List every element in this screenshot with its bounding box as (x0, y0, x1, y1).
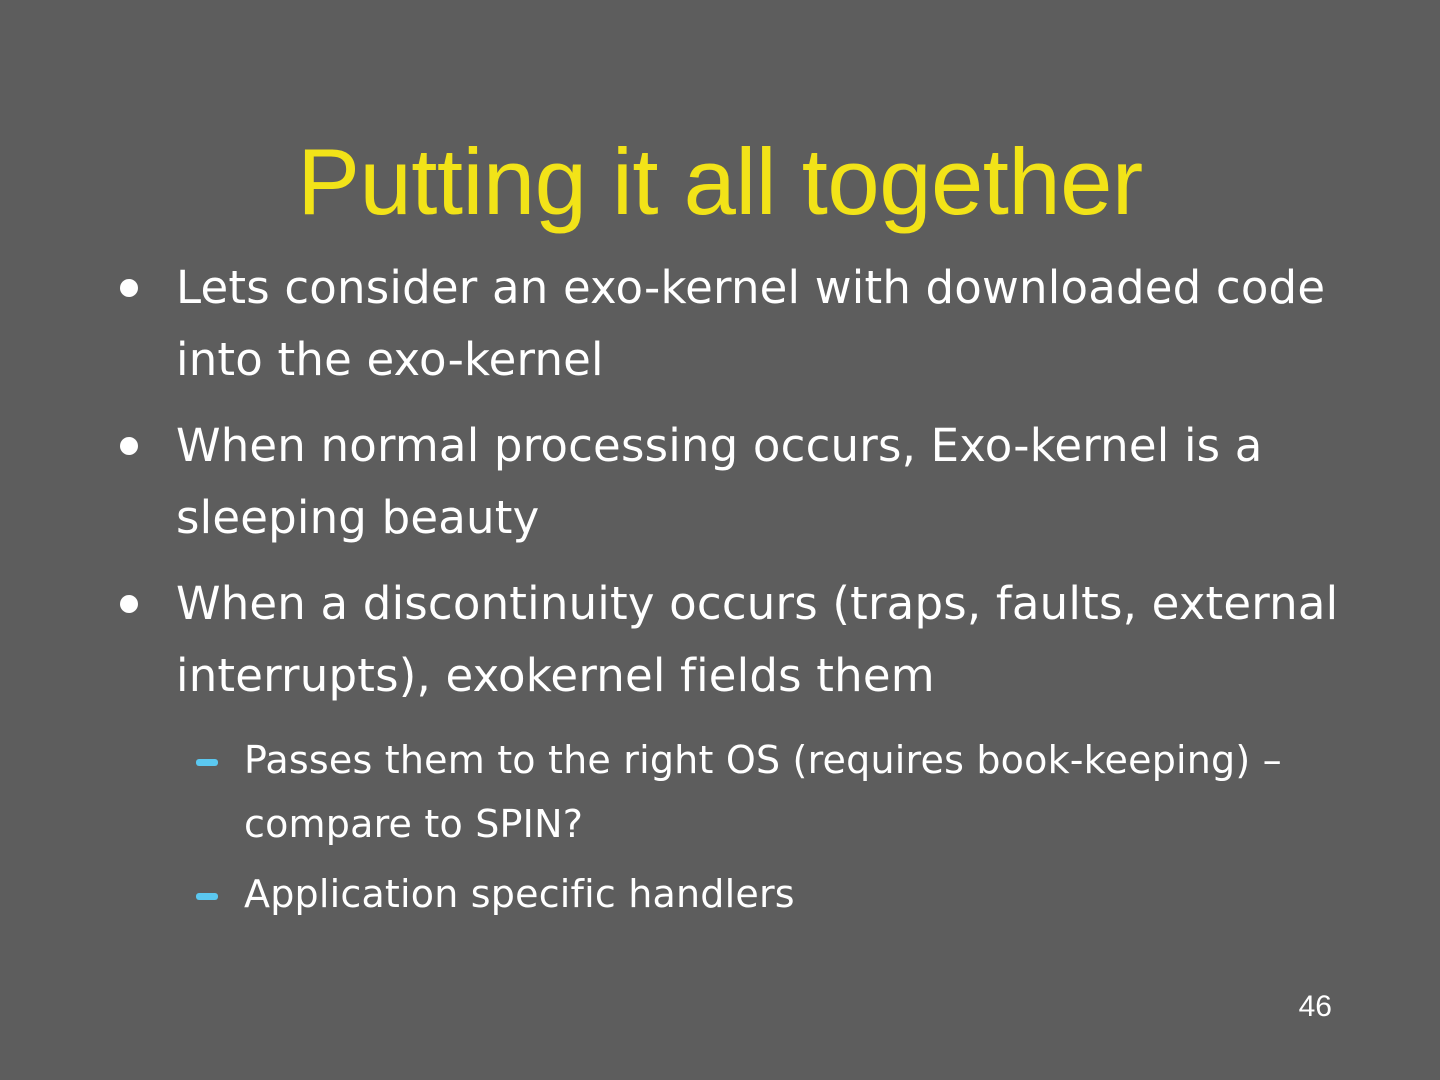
sub-bullet-text: Application specific handlers (244, 862, 1350, 926)
round-bullet-icon (120, 437, 138, 455)
list-item: Lets consider an exo-kernel with downloa… (110, 252, 1350, 396)
list-item: When normal processing occurs, Exo-kerne… (110, 410, 1350, 554)
dash-bullet-icon (196, 759, 218, 766)
round-bullet-icon (120, 279, 138, 297)
slide-body: Lets consider an exo-kernel with downloa… (110, 252, 1350, 932)
slide-title: Putting it all together (0, 135, 1440, 229)
sub-bullet-text: Passes them to the right OS (requires bo… (244, 728, 1350, 856)
list-item: Passes them to the right OS (requires bo… (196, 728, 1350, 856)
slide-canvas: Putting it all together Lets consider an… (0, 0, 1440, 1080)
round-bullet-icon (120, 595, 138, 613)
bullet-text: When a discontinuity occurs (traps, faul… (176, 568, 1350, 712)
bullet-text: Lets consider an exo-kernel with downloa… (176, 252, 1350, 396)
list-item: When a discontinuity occurs (traps, faul… (110, 568, 1350, 712)
dash-bullet-icon (196, 893, 218, 900)
list-item: Application specific handlers (196, 862, 1350, 926)
bullet-text: When normal processing occurs, Exo-kerne… (176, 410, 1350, 554)
page-number: 46 (1299, 992, 1332, 1022)
sub-bullet-list: Passes them to the right OS (requires bo… (110, 728, 1350, 926)
